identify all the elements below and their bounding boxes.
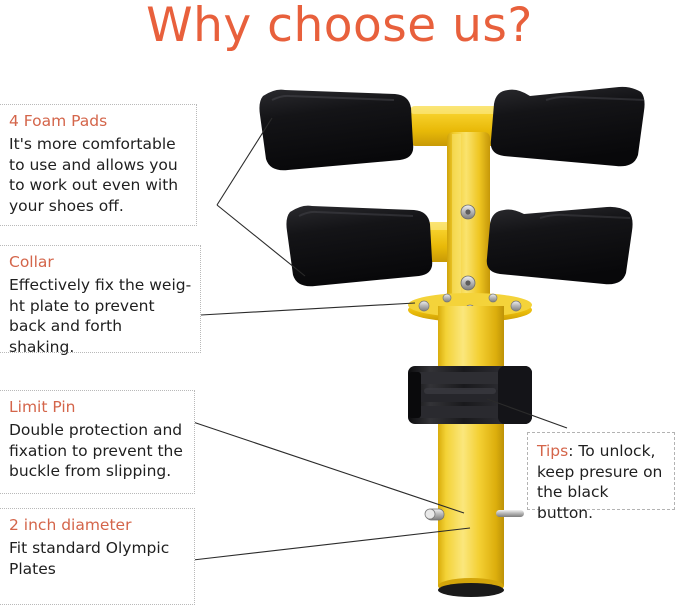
callout-body-foam-pads: It's more comfortable to use and allows … <box>9 134 188 216</box>
callout-foam-pads: 4 Foam Pads It's more comfortable to use… <box>0 104 197 226</box>
tips-text: Tips: To unlock, keep presure on the bla… <box>537 441 668 523</box>
callout-collar: Collar Effectively fix the weig-ht plate… <box>0 245 201 353</box>
leader-tube-diameter <box>193 528 470 560</box>
leader-black-button <box>487 399 567 428</box>
tips-label: Tips <box>537 442 568 460</box>
callout-heading-collar: Collar <box>9 252 192 272</box>
callout-body-collar: Effectively fix the weig-ht plate to pre… <box>9 275 192 357</box>
leader-foam-pad-bottom-left <box>217 205 305 276</box>
leader-collar-flange <box>201 303 415 315</box>
infographic-page: Why choose us? <box>0 0 679 608</box>
callout-heading-limit-pin: Limit Pin <box>9 397 186 417</box>
callout-body-limit-pin: Double protection and fixation to preven… <box>9 420 186 482</box>
leader-limit-pin <box>193 422 464 513</box>
callout-body-two-inch-diameter: Fit standard Olympic Plates <box>9 538 186 579</box>
callout-two-inch-diameter: 2 inch diameter Fit standard Olympic Pla… <box>0 508 195 605</box>
callout-tips: Tips: To unlock, keep presure on the bla… <box>527 432 675 510</box>
callout-heading-foam-pads: 4 Foam Pads <box>9 111 188 131</box>
leader-foam-pad-top-left <box>217 118 272 205</box>
callout-heading-two-inch-diameter: 2 inch diameter <box>9 515 186 535</box>
tips-separator: : <box>568 442 578 460</box>
callout-limit-pin: Limit Pin Double protection and fixation… <box>0 390 195 494</box>
